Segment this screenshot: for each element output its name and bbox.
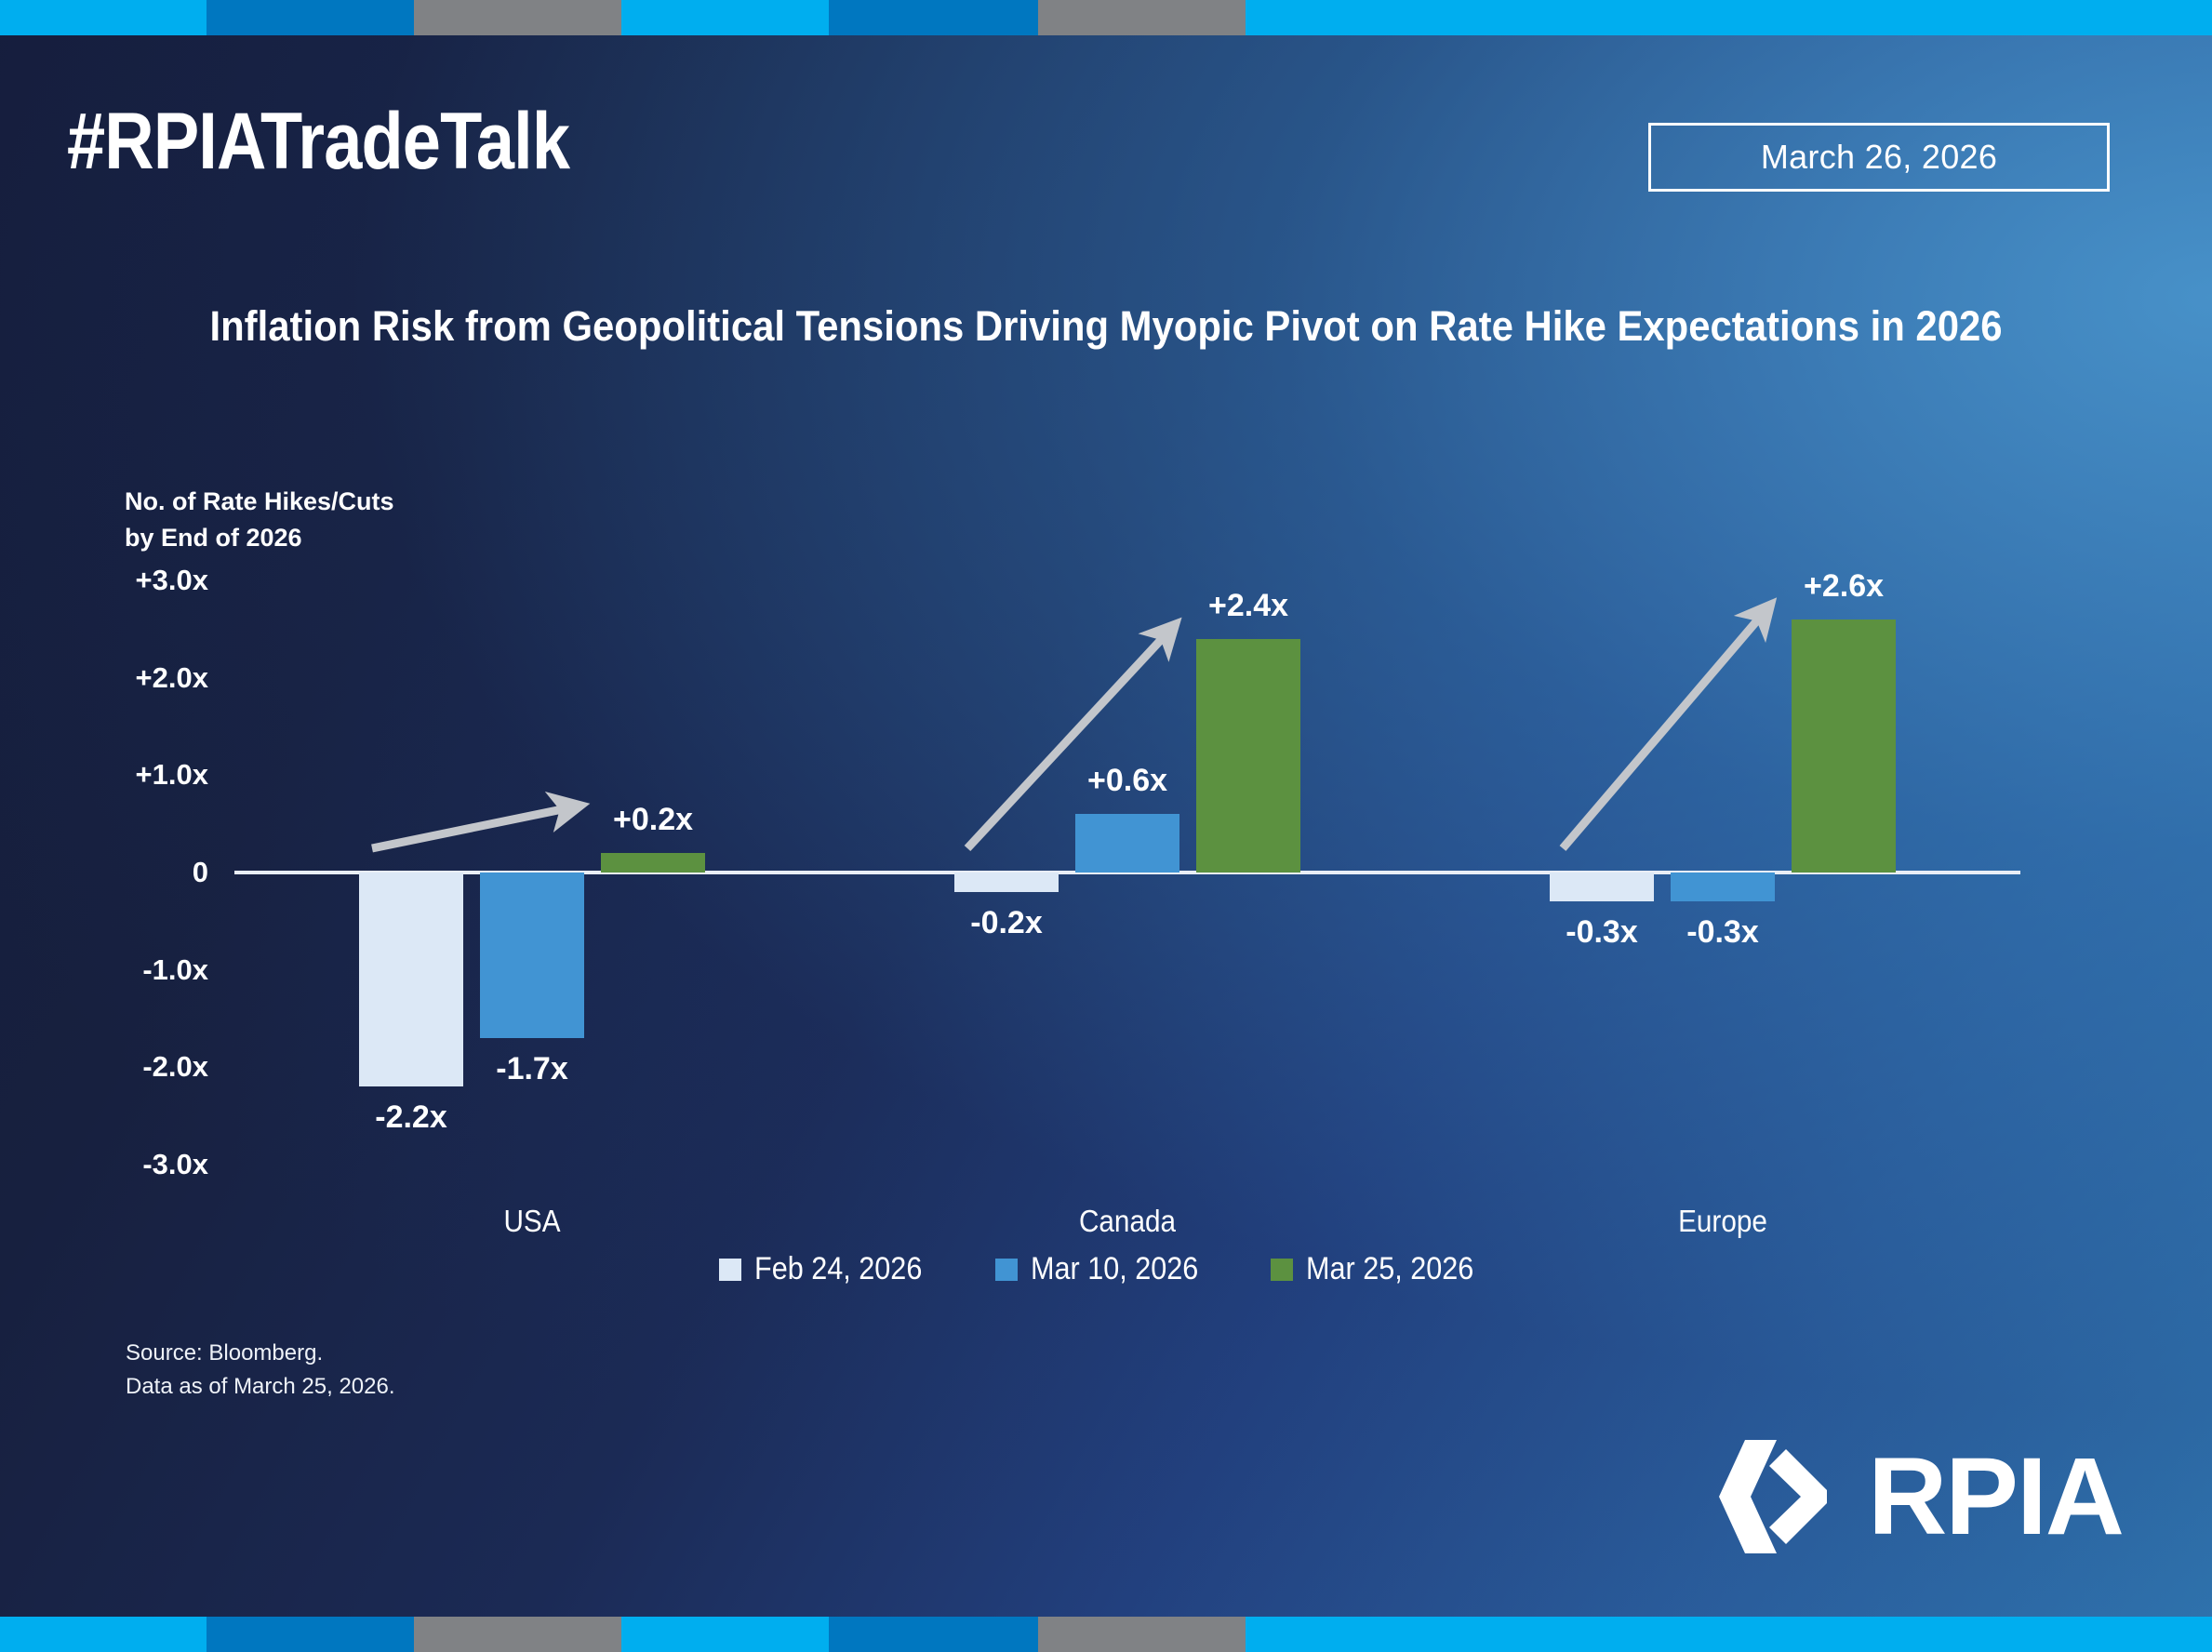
rpia-wordmark: RPIA	[1868, 1442, 2123, 1552]
legend-label: Feb 24, 2026	[754, 1251, 922, 1287]
legend-swatch-icon	[719, 1259, 741, 1281]
bar-value-label: -1.7x	[496, 1051, 568, 1087]
y-axis-tick-4: -1.0x	[142, 953, 208, 987]
y-axis-tick-1: +2.0x	[136, 661, 208, 695]
bar-usa-0[interactable]: -2.2x	[359, 873, 463, 1086]
slide-canvas: #RPIATradeTalk March 26, 2026 Inflation …	[0, 0, 2212, 1652]
accent-segment-2	[414, 1617, 621, 1652]
source-note: Source: Bloomberg. Data as of March 25, …	[126, 1337, 395, 1403]
bar-group-europe: -0.3x-0.3x+2.6xEurope	[1425, 580, 2020, 1165]
accent-segment-6	[1246, 0, 2212, 35]
page-title: #RPIATradeTalk	[67, 96, 569, 188]
bar-canada-2[interactable]: +2.4x	[1196, 639, 1300, 873]
bar-europe-1[interactable]: -0.3x	[1671, 873, 1775, 901]
legend-label: Mar 25, 2026	[1306, 1251, 1473, 1287]
accent-segment-5	[1038, 0, 1246, 35]
date-badge: March 26, 2026	[1648, 123, 2110, 192]
legend-item-0[interactable]: Feb 24, 2026	[719, 1251, 940, 1287]
accent-segment-0	[0, 1617, 207, 1652]
accent-bar-top	[0, 0, 2212, 35]
bar-usa-2[interactable]: +0.2x	[601, 853, 705, 873]
bar-usa-1[interactable]: -1.7x	[480, 873, 584, 1038]
accent-segment-3	[621, 0, 829, 35]
legend-item-2[interactable]: Mar 25, 2026	[1271, 1251, 1492, 1287]
bar-canada-0[interactable]: -0.2x	[954, 873, 1059, 892]
rpia-logo: RPIA	[1717, 1438, 2123, 1555]
bar-value-label: +2.6x	[1804, 568, 1884, 605]
x-axis-label-usa: USA	[264, 1204, 800, 1239]
accent-segment-0	[0, 0, 207, 35]
bar-chart-plot: +3.0x+2.0x+1.0x0-1.0x-2.0x-3.0x-2.2x-1.7…	[234, 580, 2020, 1165]
accent-segment-1	[207, 1617, 414, 1652]
accent-segment-4	[829, 1617, 1038, 1652]
bar-group-canada: -0.2x+0.6x+2.4xCanada	[830, 580, 1425, 1165]
bar-value-label: +0.6x	[1087, 763, 1167, 799]
trend-arrow-canada	[830, 580, 1425, 1165]
y-axis-tick-2: +1.0x	[136, 758, 208, 792]
bar-value-label: +2.4x	[1208, 588, 1288, 624]
bar-value-label: +0.2x	[613, 802, 693, 838]
legend-swatch-icon	[995, 1259, 1018, 1281]
rpia-chevron-icon	[1717, 1438, 1844, 1555]
accent-segment-2	[414, 0, 621, 35]
y-axis-tick-0: +3.0x	[136, 564, 208, 597]
bar-canada-1[interactable]: +0.6x	[1075, 814, 1179, 873]
bar-value-label: -2.2x	[375, 1099, 447, 1136]
legend-label: Mar 10, 2026	[1031, 1251, 1198, 1287]
date-text: March 26, 2026	[1761, 138, 1997, 177]
x-axis-label-canada: Canada	[859, 1204, 1395, 1239]
legend-swatch-icon	[1271, 1259, 1293, 1281]
chart-legend: Feb 24, 2026Mar 10, 2026Mar 25, 2026	[0, 1251, 2212, 1287]
accent-bar-bottom	[0, 1617, 2212, 1652]
bar-value-label: -0.3x	[1566, 914, 1638, 951]
accent-segment-3	[621, 1617, 829, 1652]
y-axis-caption: No. of Rate Hikes/Cuts by End of 2026	[125, 484, 394, 556]
x-axis-label-europe: Europe	[1455, 1204, 1991, 1239]
y-axis-tick-3: 0	[193, 856, 208, 889]
y-axis-tick-6: -3.0x	[142, 1148, 208, 1181]
y-axis-tick-5: -2.0x	[142, 1050, 208, 1084]
bar-group-usa: -2.2x-1.7x+0.2xUSA	[234, 580, 830, 1165]
bar-value-label: -0.3x	[1686, 914, 1759, 951]
accent-segment-6	[1246, 1617, 2212, 1652]
bar-europe-0[interactable]: -0.3x	[1550, 873, 1654, 901]
accent-segment-1	[207, 0, 414, 35]
accent-segment-4	[829, 0, 1038, 35]
accent-segment-5	[1038, 1617, 1246, 1652]
bar-value-label: -0.2x	[970, 905, 1043, 941]
bar-europe-2[interactable]: +2.6x	[1792, 619, 1896, 873]
chart-title: Inflation Risk from Geopolitical Tension…	[77, 300, 2135, 353]
legend-item-1[interactable]: Mar 10, 2026	[995, 1251, 1217, 1287]
